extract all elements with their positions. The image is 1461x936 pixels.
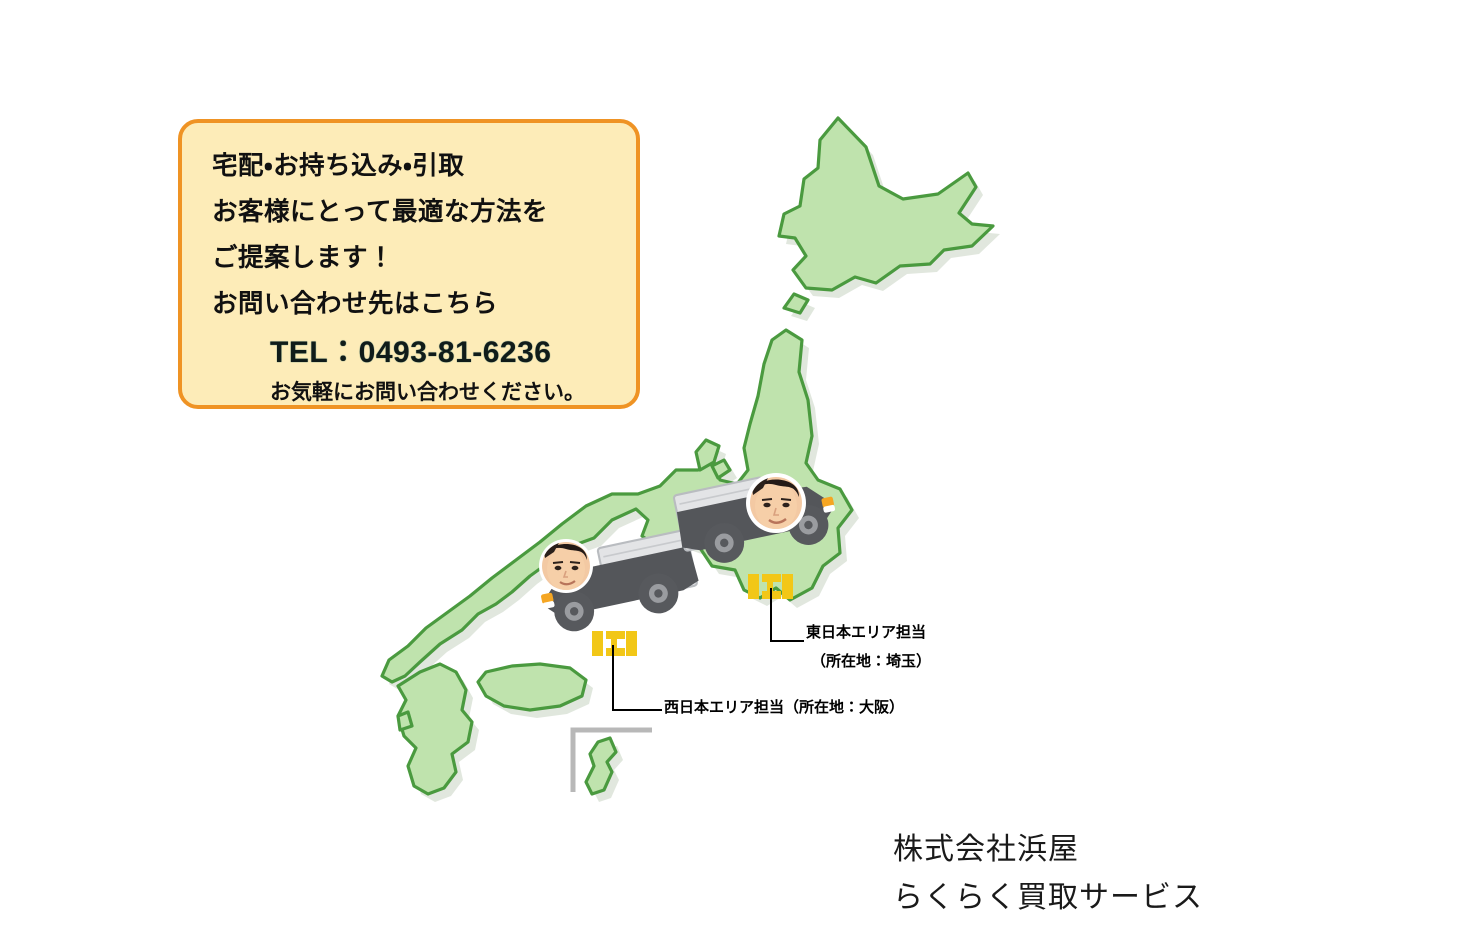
info-line-4: お問い合わせ先はこちら <box>212 281 624 327</box>
east-driver-avatar <box>746 473 806 533</box>
info-line-3: ご提案します！ <box>212 235 624 281</box>
company-name: 株式会社浜屋 <box>893 826 1313 874</box>
footer-brand-block: 株式会社浜屋 らくらく買取サービス <box>893 826 1313 922</box>
label-east-japan-area: 東日本エリア担当 <box>806 623 926 643</box>
telephone-number[interactable]: TEL：0493-81-6236 <box>270 331 624 375</box>
telephone-note: お気軽にお問い合わせください。 <box>270 377 624 409</box>
page-canvas: 宅配・お持ち込み・引取 お客様にとって最適な方法を ご提案します！ お問い合わせ… <box>0 0 1461 936</box>
label-west-japan-area: 西日本エリア担当（所在地：大阪） <box>664 698 904 718</box>
marker-west-japan[interactable] <box>592 631 637 656</box>
label-east-japan-location: （所在地：埼玉） <box>811 652 931 672</box>
info-text-block: 宅配・お持ち込み・引取 お客様にとって最適な方法を ご提案します！ お問い合わせ… <box>212 143 624 409</box>
west-driver-avatar <box>539 539 593 593</box>
info-line-2: お客様にとって最適な方法を <box>212 189 624 235</box>
service-name: らくらく買取サービス <box>893 874 1313 922</box>
info-line-1: 宅配・お持ち込み・引取 <box>212 143 624 189</box>
contact-info-box: 宅配・お持ち込み・引取 お客様にとって最適な方法を ご提案します！ お問い合わせ… <box>178 119 640 409</box>
